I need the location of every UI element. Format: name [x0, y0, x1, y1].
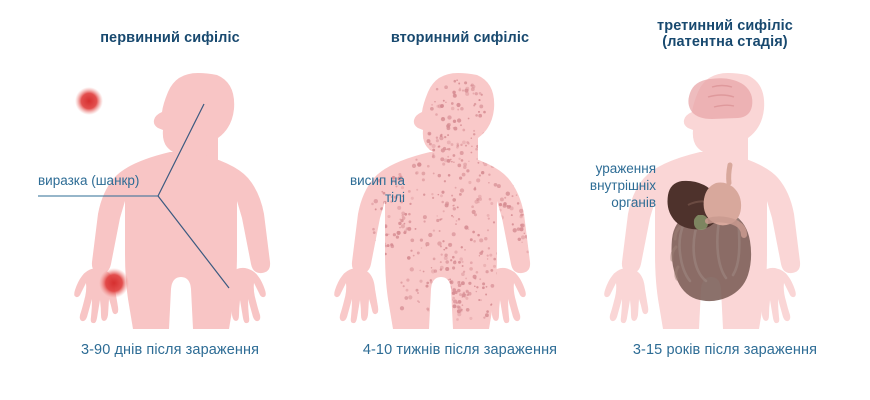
chancre-marker-groin [99, 268, 129, 298]
annotation-organs: ураження внутрішніх органів [558, 160, 656, 211]
stage-tertiary-caption: 3-15 років після зараження [580, 342, 870, 358]
annotation-rash: висип на тілі [315, 172, 405, 206]
chancre-marker-lip [75, 87, 103, 115]
stage-primary-caption: 3-90 днів після зараження [0, 342, 340, 358]
stage-tertiary-title: третинний сифіліс (латентна стадія) [580, 18, 870, 50]
stage-secondary-title: вторинний сифіліс [330, 30, 590, 46]
syphilis-stages-infographic: первинний сифіліс [0, 0, 870, 400]
annotation-chancre: виразка (шанкр) [38, 172, 139, 189]
stage-primary-figure [0, 55, 340, 330]
organ-brain [688, 78, 752, 119]
stage-primary: первинний сифіліс [0, 0, 340, 400]
stage-primary-title: первинний сифіліс [0, 30, 340, 46]
stage-secondary-caption: 4-10 тижнів після зараження [330, 342, 590, 358]
